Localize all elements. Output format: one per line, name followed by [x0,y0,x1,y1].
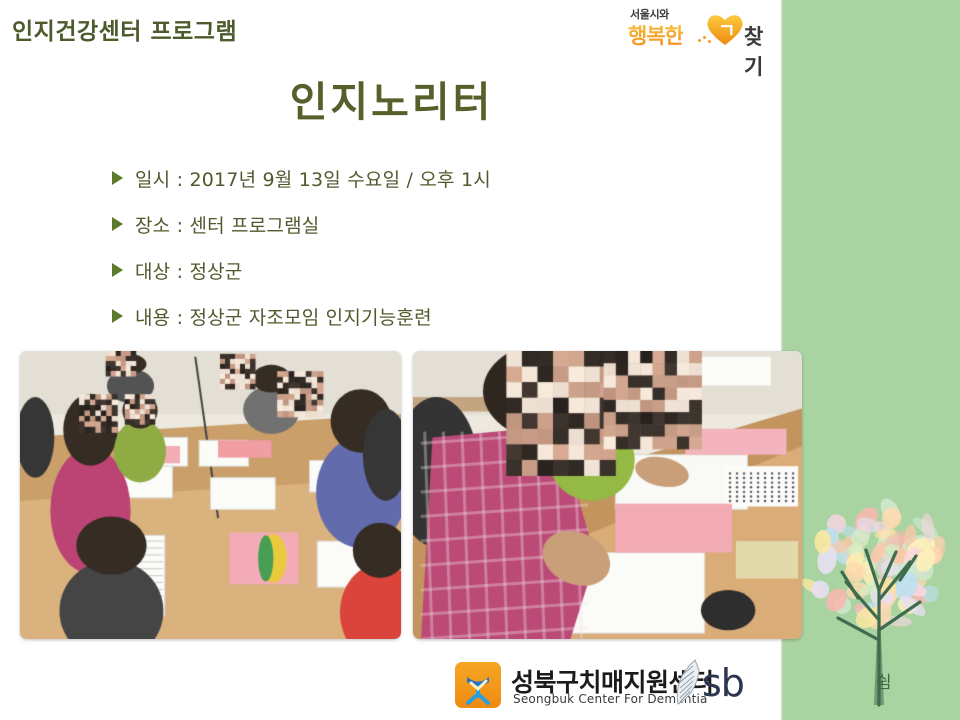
list-item: 대상 : 정상군 [112,247,712,293]
list-item-label: 대상 : 정상군 [135,257,242,284]
triangle-bullet-icon [112,217,123,231]
page-title: 인지노리터 [0,68,783,128]
seoul-happy-logo: 서울시와 행복한 ㄱ 찾기 [628,6,780,52]
triangle-bullet-icon [112,171,123,185]
photo-reflection-left [20,640,401,720]
right-green-panel [783,0,960,720]
seoul-logo-maintext: 행복한 [628,20,683,50]
feather-icon [671,658,705,714]
triangle-bullet-icon [112,263,123,277]
list-item-label: 일시 : 2017년 9월 13일 수요일 / 오후 1시 [135,165,491,192]
list-item: 장소 : 센터 프로그램실 [112,201,712,247]
heart-icon: ㄱ [706,12,744,46]
footer-logo: 성북구치매지원센터 Seongbuk Center For Dementia s… [455,658,775,716]
seongbuk-mark-icon [455,662,501,708]
presentation-slide: 쉼 인지건강센터 프로그램 서울시와 행복한 ㄱ 찾기 인지노리터 [0,0,960,720]
page-header-title: 인지건강센터 프로그램 [12,12,237,46]
heart-inner-glyph: ㄱ [718,16,735,43]
photo-participant-closeup [413,351,802,639]
list-item-label: 장소 : 센터 프로그램실 [135,211,319,238]
photo-group-activity [20,351,401,639]
list-item: 내용 : 정상군 자조모임 인지기능훈련 [112,293,712,339]
list-item-label: 내용 : 정상군 자조모임 인지기능훈련 [135,303,432,330]
program-detail-list: 일시 : 2017년 9월 13일 수요일 / 오후 1시 장소 : 센터 프로… [112,155,712,339]
sb-logo-mark: sb [702,661,744,705]
triangle-bullet-icon [112,309,123,323]
list-item: 일시 : 2017년 9월 13일 수요일 / 오후 1시 [112,155,712,201]
